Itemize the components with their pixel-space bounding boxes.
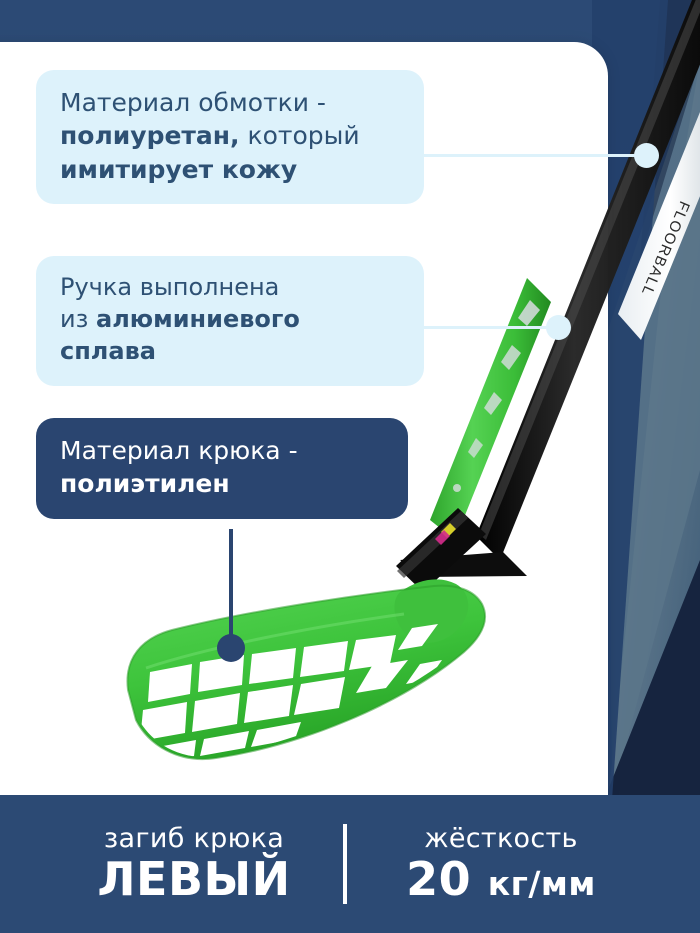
connector-dot-wrap xyxy=(634,143,659,168)
spec-stiffness-unit: кг/мм xyxy=(488,864,596,903)
callout-text: Материал обмотки - xyxy=(60,88,326,117)
callout-text: из xyxy=(60,305,96,333)
callout-text: Ручка выполнена xyxy=(60,273,279,301)
infographic-stage: FLOORBALL Материал обмотки -полиуретан, … xyxy=(0,0,700,933)
connector-dot-handle xyxy=(546,315,571,340)
spec-bar: загиб крюка ЛЕВЫЙ жёсткость 20 кг/мм xyxy=(0,795,700,933)
callout-line: из алюминиевого xyxy=(60,304,400,336)
callout-text-bold: алюминиевого xyxy=(96,305,300,333)
spec-bend-value: ЛЕВЫЙ xyxy=(97,855,290,905)
callout-text: Материал крюка - xyxy=(60,436,298,465)
spec-stiffness-value: 20 кг/мм xyxy=(406,855,596,905)
callout-text-bold: полиуретан, xyxy=(60,121,240,150)
connector-line-wrap xyxy=(416,154,652,157)
spec-divider xyxy=(343,824,347,904)
connector-line-hook xyxy=(229,529,233,647)
callout-line: Ручка выполнена xyxy=(60,272,400,304)
callout-line: Материал обмотки - xyxy=(60,86,400,119)
connector-dot-hook xyxy=(217,634,245,662)
spec-stiffness: жёсткость 20 кг/мм xyxy=(351,824,651,904)
callout-text-bold: имитирует кожу xyxy=(60,155,297,184)
connector-line-handle xyxy=(416,326,562,329)
callout-handle-material: Ручка выполненаиз алюминиевогосплава xyxy=(36,256,424,386)
callout-line: полиэтилен xyxy=(60,467,384,500)
callout-hook-material: Материал крюка -полиэтилен xyxy=(36,418,408,519)
callout-text: который xyxy=(240,121,360,150)
callout-line: сплава xyxy=(60,336,400,368)
callout-text-bold: сплава xyxy=(60,337,156,365)
spec-stiffness-number: 20 xyxy=(406,852,471,906)
callout-line: полиуретан, который xyxy=(60,119,400,152)
spec-bend-label: загиб крюка xyxy=(104,824,284,854)
callout-line: Материал крюка - xyxy=(60,434,384,467)
callout-wrap-material: Материал обмотки -полиуретан, которыйими… xyxy=(36,70,424,204)
spec-stiffness-label: жёсткость xyxy=(424,824,578,854)
callout-text-bold: полиэтилен xyxy=(60,469,230,498)
callout-line: имитирует кожу xyxy=(60,153,400,186)
spec-bend: загиб крюка ЛЕВЫЙ xyxy=(49,824,339,904)
